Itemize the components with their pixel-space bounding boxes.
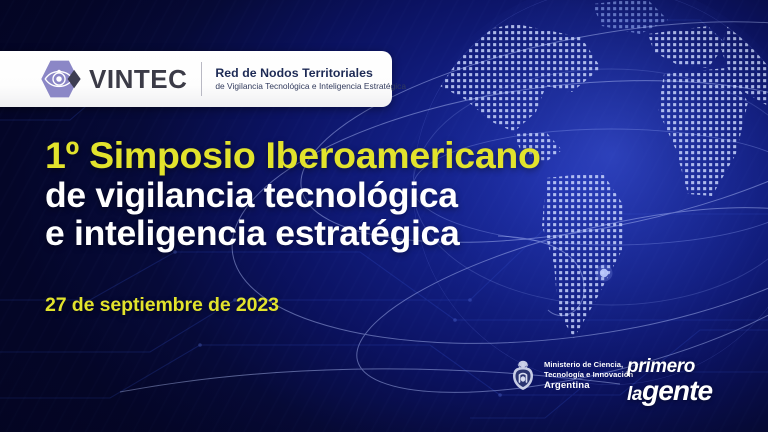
vintec-logo-icon [40,59,82,99]
event-date: 27 de septiembre de 2023 [45,294,279,317]
ministry-line-1: Ministerio de Ciencia, [544,360,633,369]
slogan-line-2: lagente [627,377,712,405]
ministry-line-2: Tecnología e Innovación [544,370,633,379]
argentina-coat-of-arms-icon [509,360,537,392]
vintec-wordmark: VINTEC [89,66,187,92]
primero-la-gente-logo: primero lagente [627,357,712,405]
vintec-banner: VINTEC Red de Nodos Territoriales de Vig… [0,51,392,107]
poster-canvas: VINTEC Red de Nodos Territoriales de Vig… [0,0,768,432]
banner-divider [201,62,202,96]
slogan-gente: gente [642,375,712,406]
slogan-line-1: primero [627,357,712,376]
ministry-logo-block: Ministerio de Ciencia, Tecnología e Inno… [509,360,633,392]
network-subtitle: de Vigilancia Tecnológica e Inteligencia… [215,82,406,92]
headline-line-2: de vigilancia tecnológica [45,177,645,214]
orbit-node-dot [600,269,608,277]
slogan-la: la [627,384,642,405]
headline-block: 1º Simposio Iberoamericano de vigilancia… [45,136,645,252]
headline-line-1: 1º Simposio Iberoamericano [45,136,645,175]
network-title: Red de Nodos Territoriales [215,66,406,81]
ministry-country: Argentina [544,380,633,392]
headline-line-3: e inteligencia estratégica [45,215,645,252]
